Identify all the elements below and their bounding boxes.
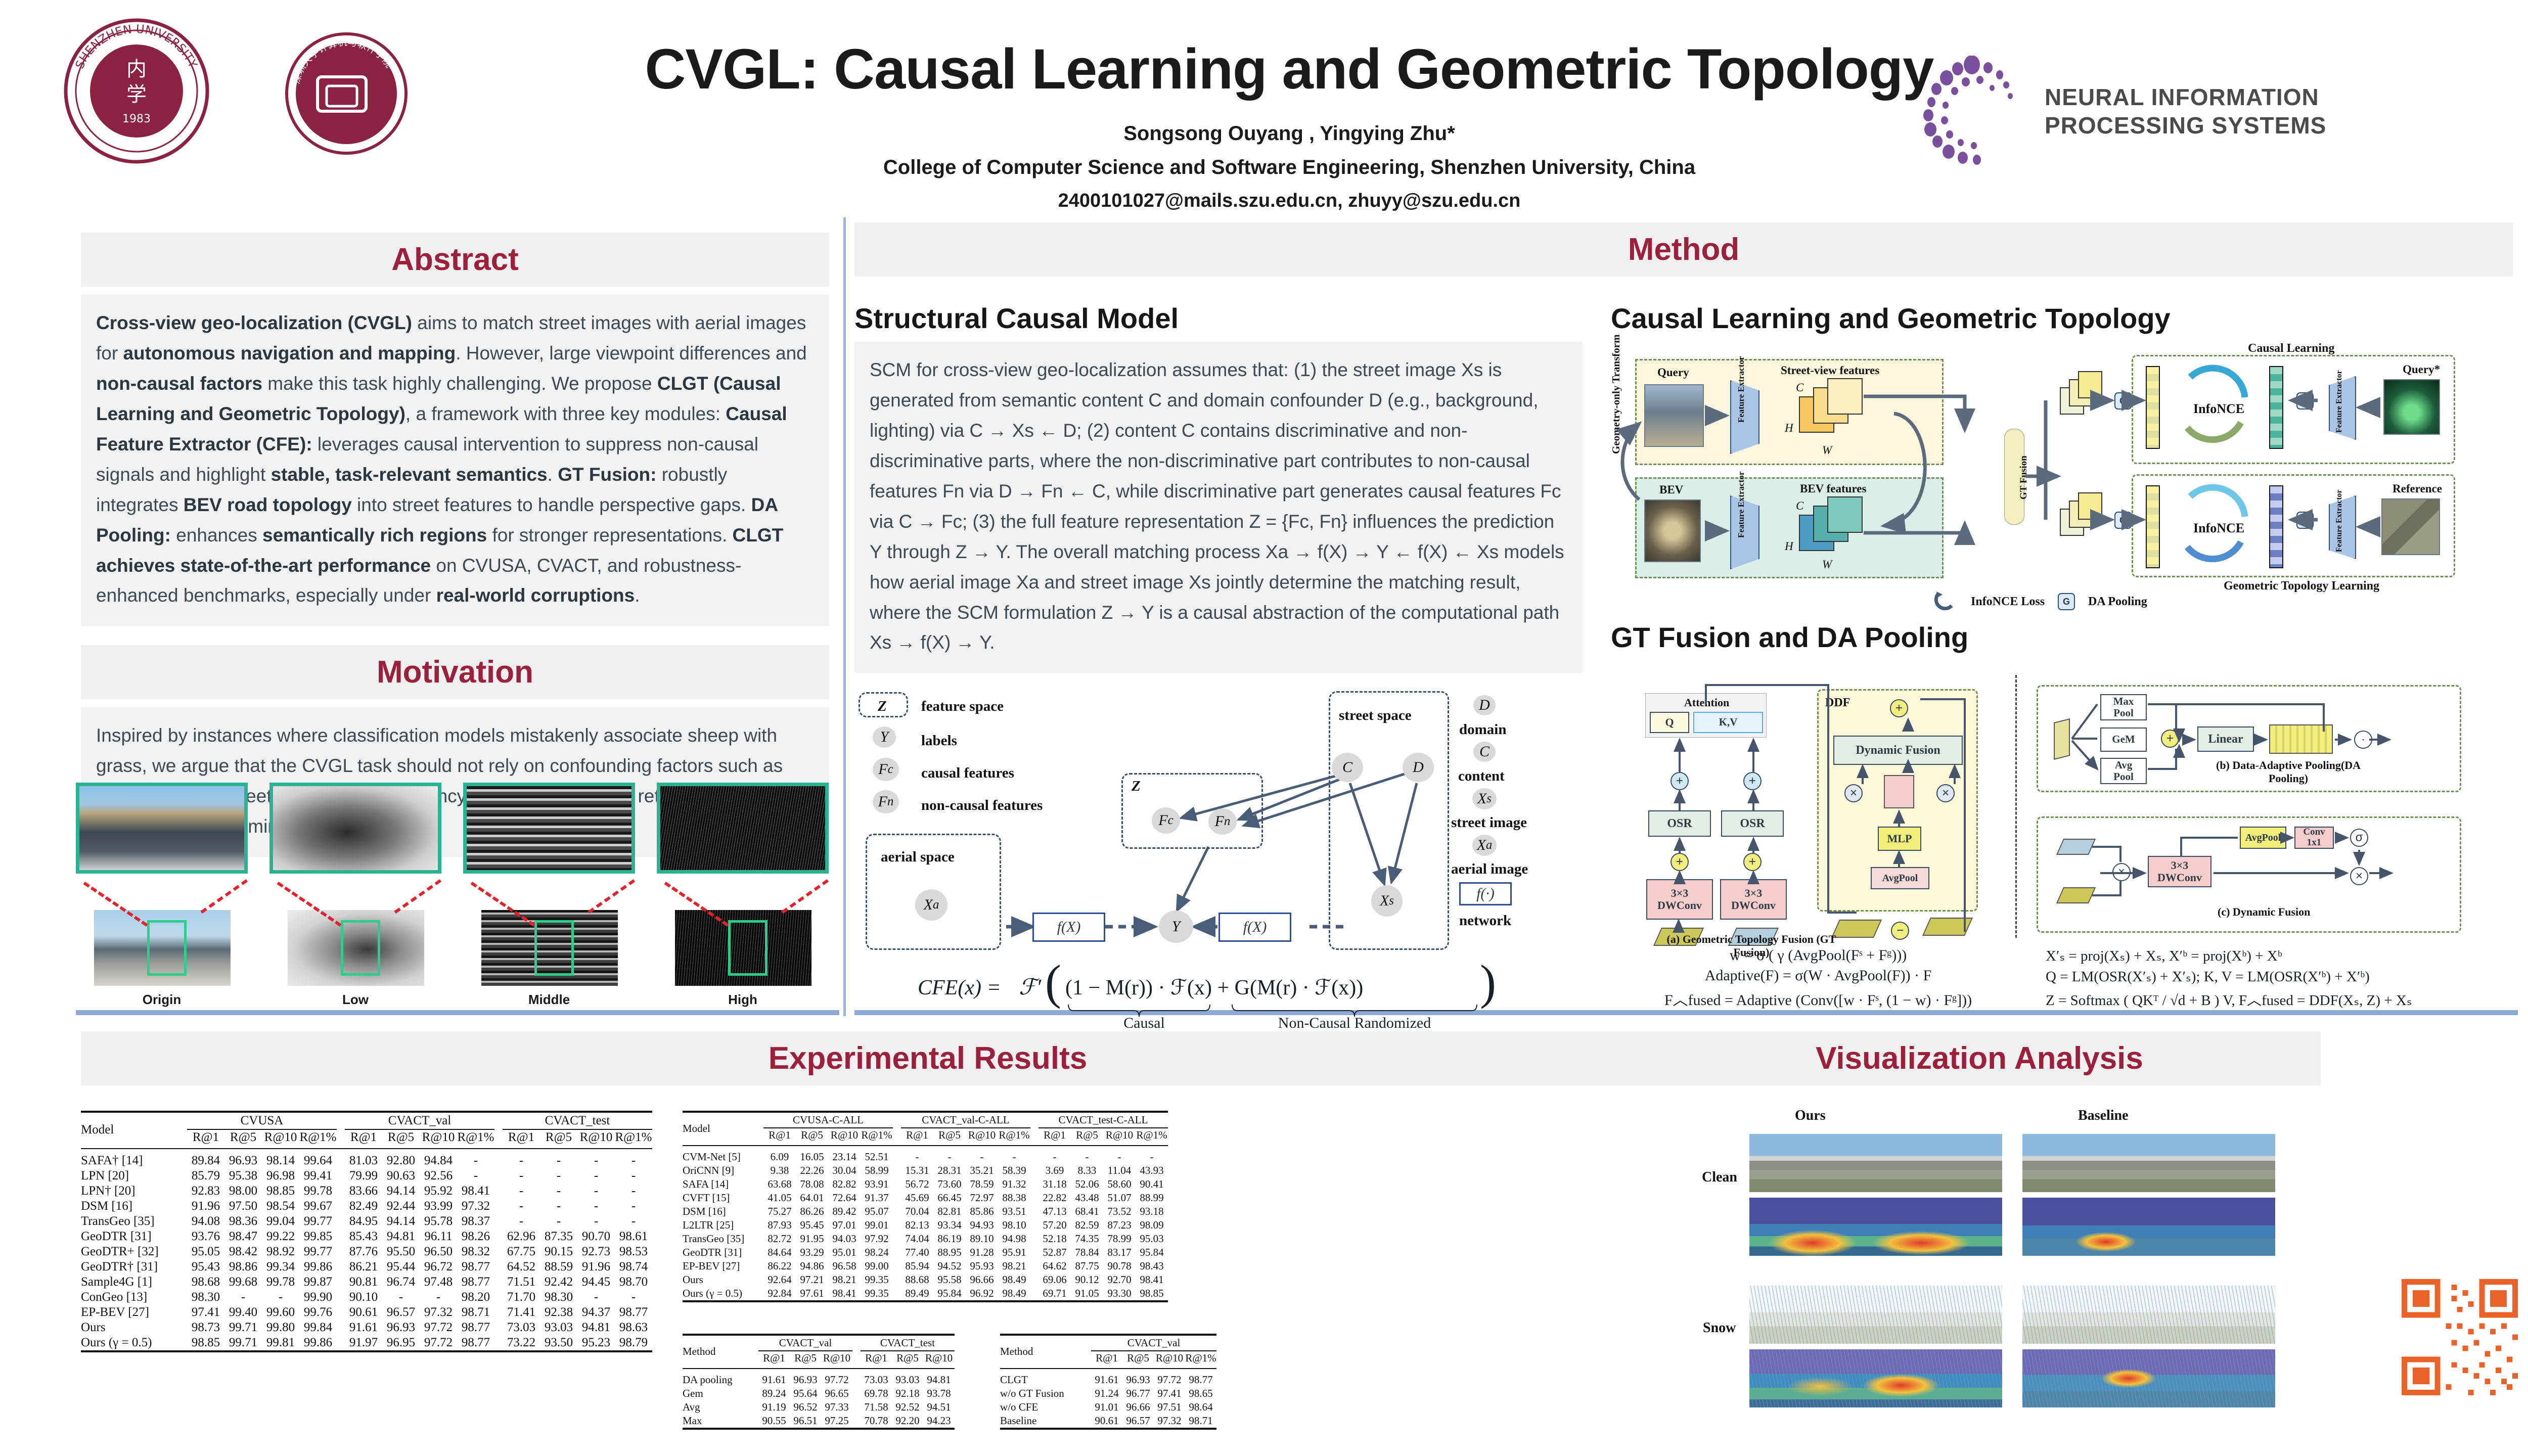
table-cell: 78.59 [966, 1177, 998, 1191]
table-cell: 82.59 [1071, 1218, 1103, 1232]
table-cell-model: CVM-Net [5] [683, 1146, 763, 1164]
motivation-roi-middle [534, 920, 574, 976]
table-cell-model: GeoDTR+ [32] [81, 1244, 187, 1259]
g-badge-icon: G [2058, 593, 2075, 610]
table-cell: 86.19 [933, 1232, 966, 1246]
table-cell: - [503, 1184, 540, 1199]
table-cell: 92.70 [1103, 1273, 1136, 1287]
table-cell: 98.41 [1136, 1273, 1168, 1287]
table-cell: 71.70 [503, 1290, 540, 1305]
table-cell: - [577, 1290, 615, 1305]
table-cell: 84.64 [763, 1246, 796, 1259]
table-col-header: R@10 [1103, 1128, 1136, 1144]
table-cell: 96.65 [821, 1387, 852, 1400]
table-cell: 92.56 [420, 1168, 457, 1184]
motivation-panorama-high [675, 910, 811, 986]
table-cell: 89.42 [828, 1205, 861, 1218]
vis-col-label-baseline: Baseline [2078, 1108, 2129, 1124]
gtfusion-title: GT Fusion and DA Pooling [1611, 621, 2480, 654]
table-col-header: R@10 [1154, 1351, 1185, 1367]
table-cell: 87.75 [1071, 1259, 1103, 1273]
table-cell: 88.38 [998, 1191, 1030, 1205]
table-cell: 91.01 [1091, 1400, 1122, 1414]
table-cell: 98.20 [457, 1290, 494, 1305]
table-cell: - [998, 1146, 1030, 1164]
gtfusion-figure: Attention Q K,V + + OSR OSR + + 3×3DWCon… [1611, 665, 2470, 948]
table-cell: 92.84 [763, 1287, 796, 1301]
table-cell: 52.18 [1039, 1232, 1071, 1246]
table-cell: - [1071, 1146, 1103, 1164]
table-cell: 99.78 [299, 1184, 337, 1199]
table-cell: 78.84 [1071, 1246, 1103, 1259]
table-cell: 94.98 [998, 1232, 1030, 1246]
table-cell: 99.85 [299, 1229, 337, 1244]
table-cell: 73.03 [503, 1320, 540, 1335]
table-cell: 99.90 [299, 1290, 337, 1305]
table-cell: 70.04 [901, 1205, 933, 1218]
legend-d-label: domain [1459, 721, 1506, 738]
svg-text:CFE(x) =: CFE(x) = [918, 976, 1001, 999]
table-cell: - [540, 1199, 577, 1214]
table-row: LPN [20]85.7995.3896.9899.4179.9990.6392… [81, 1168, 652, 1184]
table-cell: - [615, 1290, 652, 1305]
table-cell: 16.05 [796, 1146, 828, 1164]
table-cell: 81.03 [345, 1149, 382, 1168]
table-cell: 85.79 [187, 1168, 224, 1184]
table-cell: 93.18 [1136, 1205, 1168, 1218]
table-cell: 91.61 [345, 1320, 382, 1335]
table-cell: 98.77 [615, 1305, 652, 1320]
table-cell: 31.18 [1039, 1177, 1071, 1191]
table-cell: 99.87 [299, 1275, 337, 1290]
table-row: GeoDTR+ [32]95.0598.4298.9299.7787.7695.… [81, 1244, 652, 1259]
table-cell: 94.81 [923, 1369, 955, 1387]
table-row: Avg91.1996.5297.3371.5892.5294.51 [683, 1400, 955, 1414]
scm-diagram: Z feature space Y labels Fc causal featu… [854, 684, 1583, 967]
table-cell: 92.52 [892, 1400, 923, 1414]
table-col-header: R@5 [1122, 1351, 1154, 1367]
main-results-table: ModelCVUSACVACT_valCVACT_testR@1R@5R@10R… [81, 1111, 652, 1352]
table-cell: 87.93 [763, 1218, 796, 1232]
feature-space-label: Z [1132, 778, 1141, 795]
table-cell: 90.61 [1091, 1414, 1122, 1429]
table-cell-model: CVFT [15] [683, 1191, 763, 1205]
table-group-header: CVACT_test [861, 1335, 955, 1351]
motivation-label-high: High [657, 992, 829, 1008]
motivation-panorama-origin [94, 910, 231, 986]
table-cell: 97.01 [828, 1218, 861, 1232]
table-cell: 62.96 [503, 1229, 540, 1244]
table-cell: 90.63 [382, 1168, 420, 1184]
motivation-roi-low [341, 920, 380, 976]
table-cell: 87.23 [1103, 1218, 1136, 1232]
table-cell: 15.31 [901, 1164, 933, 1177]
table-col-header: R@5 [933, 1128, 966, 1144]
table-cell: 94.45 [577, 1275, 615, 1290]
table-group-header: CVACT_val-C-ALL [901, 1112, 1030, 1128]
table-cell: - [503, 1168, 540, 1184]
feature-space-group [1121, 773, 1263, 849]
motivation-label-origin: Origin [76, 992, 248, 1008]
table-row: w/o GT Fusion91.2496.7797.4198.65 [1000, 1387, 1216, 1400]
table-cell: 94.81 [577, 1320, 615, 1335]
node-fc: Fc [1152, 807, 1180, 834]
table-cell: 91.24 [1091, 1387, 1122, 1400]
poster-header: 内 学 1983 SHENZHEN UNIVERSITY 深圳大学计算机与软件学… [0, 0, 2528, 202]
table-cell: 94.81 [382, 1229, 420, 1244]
table-col-header: R@5 [892, 1351, 923, 1367]
legend-z-symbol: Z [878, 698, 887, 715]
visualization-heading: Visualization Analysis [1638, 1031, 2321, 1085]
neurips-wordmark: NEURAL INFORMATION PROCESSING SYSTEMS [2045, 83, 2326, 140]
table-cell: 74.35 [1071, 1232, 1103, 1246]
table-cell: 99.77 [299, 1214, 337, 1229]
shenzhen-university-logo-icon: 内 学 1983 SHENZHEN UNIVERSITY [61, 15, 212, 167]
table-cell: 98.74 [615, 1259, 652, 1275]
table-cell: - [382, 1290, 420, 1305]
table-cell: - [615, 1214, 652, 1229]
table-cell: 93.78 [923, 1387, 955, 1400]
vis-clean-baseline-image [2022, 1134, 2275, 1192]
table-cell: 8.33 [1071, 1164, 1103, 1177]
table-row: EP-BEV [27]97.4199.4099.6099.7690.6196.5… [81, 1305, 652, 1320]
affiliation: College of Computer Science and Software… [581, 156, 1997, 179]
table-cell: 98.21 [828, 1273, 861, 1287]
clgt-connectors [1611, 348, 2470, 585]
table-cell-model: TransGeo [35] [683, 1232, 763, 1246]
table-cell: - [262, 1290, 299, 1305]
table-cell: 47.13 [1039, 1205, 1071, 1218]
table-cell: 98.65 [1185, 1387, 1216, 1400]
svg-text:Non-Causal Randomized: Non-Causal Randomized [1278, 1015, 1431, 1031]
table-cell: 98.00 [224, 1184, 262, 1199]
table-cell: 90.10 [345, 1290, 382, 1305]
legend-network-label: network [1459, 913, 1511, 929]
table-cell: 58.39 [998, 1164, 1030, 1177]
table-cell: 92.42 [540, 1275, 577, 1290]
table-cell: - [577, 1199, 615, 1214]
table-cell: 96.57 [382, 1305, 420, 1320]
table-col-header: R@1 [901, 1128, 933, 1144]
table-row: CVFT [15]41.0564.0172.6491.3745.6966.457… [683, 1191, 1168, 1205]
main-results-table-wrap: ModelCVUSACVACT_valCVACT_testR@1R@5R@10R… [81, 1111, 652, 1430]
table-cell: 91.97 [345, 1335, 382, 1351]
table-cell: 91.61 [758, 1369, 790, 1387]
scm-text: SCM for cross-view geo-localization assu… [870, 355, 1567, 658]
motivation-figure: Origin Low Middle High [76, 783, 834, 1005]
table-cell: 98.64 [1185, 1400, 1216, 1414]
qr-code-icon[interactable] [2402, 1279, 2518, 1395]
table-cell-model: Ours [683, 1273, 763, 1287]
table-cell: 91.95 [796, 1232, 828, 1246]
table-row: L2LTR [25]87.9395.4597.0199.0182.1393.34… [683, 1218, 1168, 1232]
table-cell: 98.77 [457, 1320, 494, 1335]
table-cell-model: LPN† [20] [81, 1184, 187, 1199]
table-cell: - [1103, 1146, 1136, 1164]
cfe-equation-svg: CFE(x) = ℱ′ ( (1 − M(r)) · ℱ(x) + G(M(r)… [857, 958, 1580, 1034]
table-cell: 98.92 [262, 1244, 299, 1259]
table-col-header: R@1% [861, 1128, 893, 1144]
table-cell-model: OriCNN [9] [683, 1164, 763, 1177]
table-cell: 96.57 [1122, 1414, 1154, 1429]
equations-right: X′ₛ = proj(Xₛ) + Xₛ, X′ᵇ = proj(Xᵇ) + Xᵇ… [2046, 945, 2470, 1013]
table-cell: 99.67 [299, 1199, 337, 1214]
table-cell: 11.04 [1103, 1164, 1136, 1177]
legend-xs-label: street image [1451, 814, 1527, 831]
table-cell: 70.78 [861, 1414, 892, 1429]
table-cell: 98.32 [457, 1244, 494, 1259]
table-cell: 73.52 [1103, 1205, 1136, 1218]
vis-snow-ours-image [1749, 1286, 2002, 1344]
table-cell: - [503, 1149, 540, 1168]
table-cell: 99.00 [861, 1259, 893, 1273]
table-cell: 66.45 [933, 1191, 966, 1205]
street-space-label: street space [1339, 707, 1412, 724]
table-cell: 98.09 [1136, 1218, 1168, 1232]
table-cell: 99.80 [262, 1320, 299, 1335]
robustness-results-table: ModelCVUSA-C-ALLCVACT_val-C-ALLCVACT_tes… [683, 1111, 1168, 1302]
arrow-loop-icon [1934, 590, 1958, 613]
table-row: Ours (γ = 0.5)92.8497.6198.4199.3589.499… [683, 1287, 1168, 1301]
table-row: Baseline90.6196.5797.3298.71 [1000, 1414, 1216, 1429]
table-cell: 3.69 [1039, 1164, 1071, 1177]
table-cell-model: Gem [683, 1387, 758, 1400]
table-cell-model: Ours [81, 1320, 187, 1335]
table-cell: 98.68 [187, 1275, 224, 1290]
table-cell: 88.59 [540, 1259, 577, 1275]
table-cell: 97.72 [1154, 1369, 1185, 1387]
table-cell: 99.78 [262, 1275, 299, 1290]
table-cell-model: GeoDTR [31] [683, 1246, 763, 1259]
table-cell-model: Baseline [1000, 1414, 1091, 1429]
table-col-header: R@1% [1136, 1128, 1168, 1144]
table-cell: 92.38 [540, 1305, 577, 1320]
cfe-equation: CFE(x) = ℱ′ ( (1 − M(r)) · ℱ(x) + G(M(r)… [854, 958, 1583, 1036]
table-cell: 83.17 [1103, 1246, 1136, 1259]
table-cell: 82.49 [345, 1199, 382, 1214]
table-cell: 95.50 [382, 1244, 420, 1259]
table-cell-model: EP-BEV [27] [683, 1259, 763, 1273]
motivation-panorama-middle [481, 910, 618, 986]
table-row: SAFA† [14]89.8496.9398.1499.6481.0392.80… [81, 1149, 652, 1168]
legend-z-label: feature space [921, 698, 1004, 715]
neurips-logo: NEURAL INFORMATION PROCESSING SYSTEMS [1911, 56, 2346, 167]
table-cell: 63.68 [763, 1177, 796, 1191]
table-cell: 82.81 [933, 1205, 966, 1218]
table-cell: 90.81 [345, 1275, 382, 1290]
table-cell: 77.40 [901, 1246, 933, 1259]
table-cell-model: ConGeo [13] [81, 1290, 187, 1305]
table-cell: 86.26 [796, 1205, 828, 1218]
table-cell: 6.09 [763, 1146, 796, 1164]
table-cell: 98.54 [262, 1199, 299, 1214]
table-col-header: R@1% [457, 1129, 494, 1147]
table-cell: 96.98 [262, 1168, 299, 1184]
svg-text:内: 内 [126, 58, 147, 81]
clgt-architecture-figure: Geometry-only Transform Query Feature Ex… [1611, 348, 2470, 585]
table-cell: 99.64 [299, 1149, 337, 1168]
table-cell: 9.38 [763, 1164, 796, 1177]
table-cell: 93.34 [933, 1218, 966, 1232]
table-col-header: R@5 [790, 1351, 821, 1367]
da-pooling-legend-label: DA Pooling [2088, 595, 2147, 609]
table-cell: - [457, 1168, 494, 1184]
table-cell: 97.92 [861, 1232, 893, 1246]
scm-title: Structural Causal Model [854, 302, 1583, 335]
table-cell: 96.11 [420, 1229, 457, 1244]
table-cell-model: Sample4G [1] [81, 1275, 187, 1290]
clgt-legend: InfoNCE Loss G DA Pooling [1611, 587, 2480, 616]
table-cell: 85.94 [901, 1259, 933, 1273]
table-cell: 95.78 [420, 1214, 457, 1229]
table-cell: 96.95 [382, 1335, 420, 1351]
table-cell-model: w/o CFE [1000, 1400, 1091, 1414]
vis-row-label-clean: Clean [1702, 1169, 1737, 1186]
table-cell: 94.08 [187, 1214, 224, 1229]
table-col-header: R@10 [821, 1351, 852, 1367]
table-row: DSM [16]91.9697.5098.5499.6782.4992.4493… [81, 1199, 652, 1214]
table-cell: 88.68 [901, 1273, 933, 1287]
table-cell: 96.92 [966, 1287, 998, 1301]
table-cell: 96.51 [790, 1414, 821, 1429]
node-y: Y [1159, 911, 1193, 943]
table-cell: 98.43 [1136, 1259, 1168, 1273]
table-cell: 97.72 [420, 1335, 457, 1351]
table-cell: 98.77 [457, 1259, 494, 1275]
table-cell: 98.86 [224, 1259, 262, 1275]
node-fx-street: f(X) [1218, 913, 1291, 942]
visualization-grid: Ours Baseline Clean Snow [1638, 1108, 2321, 1431]
table-cell: 99.04 [262, 1214, 299, 1229]
table-cell: 95.58 [933, 1273, 966, 1287]
table-cell: 71.58 [861, 1400, 892, 1414]
table-cell: - [933, 1146, 966, 1164]
vis-clean-ours-image [1749, 1134, 2002, 1192]
table-group-header: CVACT_val [345, 1112, 494, 1129]
experimental-results-section: Experimental Results ModelCVUSACVACT_val… [81, 1031, 1775, 1430]
table-cell: 91.28 [966, 1246, 998, 1259]
table-cell: 93.30 [1103, 1287, 1136, 1301]
table-col-header: R@5 [1071, 1128, 1103, 1144]
visualization-section: Visualization Analysis Ours Baseline Cle… [1638, 1031, 2321, 1431]
table-cell: 98.63 [615, 1320, 652, 1335]
legend-network-node: f(·) [1459, 882, 1512, 905]
table-cell: 88.95 [933, 1246, 966, 1259]
table-cell: 99.71 [224, 1320, 262, 1335]
table-cell: 89.84 [187, 1149, 224, 1168]
motivation-crop-origin [76, 783, 248, 874]
table-col-header: R@5 [540, 1129, 577, 1147]
ablation-tables-row: MethodCVACT_valCVACT_testR@1R@5R@10R@1R@… [683, 1334, 1216, 1430]
table-cell: 98.77 [457, 1275, 494, 1290]
table-cell: 87.35 [540, 1229, 577, 1244]
table-cell: 91.37 [861, 1191, 893, 1205]
vis-snow-baseline-image [2022, 1286, 2275, 1344]
table-cell-model: LPN [20] [81, 1168, 187, 1184]
table-cell: 52.06 [1071, 1177, 1103, 1191]
table-cell: 98.71 [1185, 1414, 1216, 1429]
table-cell: 99.71 [224, 1335, 262, 1351]
table-cell: 82.82 [828, 1177, 861, 1191]
vis-row-label-snow: Snow [1703, 1320, 1736, 1336]
table-row: GeoDTR [31]93.7698.4799.2299.8585.4394.8… [81, 1229, 652, 1244]
table-cell: 94.14 [382, 1184, 420, 1199]
table-col-header: Model [81, 1112, 187, 1147]
node-fn: Fn [1208, 808, 1237, 835]
motivation-heading: Motivation [81, 645, 829, 699]
table-cell: 97.72 [420, 1320, 457, 1335]
section-divider-left [76, 1010, 839, 1015]
table-cell: 96.93 [224, 1149, 262, 1168]
table-cell: 97.50 [224, 1199, 262, 1214]
table-cell: 90.78 [1103, 1259, 1136, 1273]
table-cell-model: SAFA [14] [683, 1177, 763, 1191]
table-cell: 97.21 [796, 1273, 828, 1287]
table-cell: 83.66 [345, 1184, 382, 1199]
svg-text:学: 学 [126, 83, 147, 106]
table-cell: 96.72 [420, 1259, 457, 1275]
table-cell: 99.01 [861, 1218, 893, 1232]
table-cell: 95.03 [1136, 1232, 1168, 1246]
node-fx-aerial: f(X) [1032, 913, 1105, 942]
table-cell: - [503, 1199, 540, 1214]
table-cell: 90.41 [1136, 1177, 1168, 1191]
table-cell: - [577, 1168, 615, 1184]
legend-fn-label: non-causal features [921, 797, 1043, 814]
table-cell: - [901, 1146, 933, 1164]
table-cell: 94.14 [382, 1214, 420, 1229]
table-col-header: R@1 [1039, 1128, 1071, 1144]
table-cell: 97.48 [420, 1275, 457, 1290]
table-cell: 98.41 [828, 1287, 861, 1301]
table-cell: 99.60 [262, 1305, 299, 1320]
table-cell: 99.77 [299, 1244, 337, 1259]
table-group-header: CVACT_test-C-ALL [1039, 1112, 1168, 1128]
table-cell: - [615, 1168, 652, 1184]
table-cell: 98.79 [615, 1335, 652, 1351]
table-row: Max90.5596.5197.2570.7892.2094.23 [683, 1414, 955, 1429]
table-cell: 91.19 [758, 1400, 790, 1414]
table-row: GeoDTR† [31]95.4398.8699.3499.8686.2195.… [81, 1259, 652, 1275]
table-cell: 97.61 [796, 1287, 828, 1301]
table-cell: - [577, 1214, 615, 1229]
table-cell: 95.07 [861, 1205, 893, 1218]
table-cell: 52.87 [1039, 1246, 1071, 1259]
table-cell-model: w/o GT Fusion [1000, 1387, 1091, 1400]
table-cell: 89.24 [758, 1387, 790, 1400]
table-cell-model: DSM [16] [81, 1199, 187, 1214]
method-heading: Method [854, 222, 2513, 277]
motivation-label-middle: Middle [463, 992, 635, 1008]
table-cell: 99.81 [262, 1335, 299, 1351]
vis-snow-ours-heatmap [1749, 1349, 2002, 1407]
table-cell: - [1136, 1146, 1168, 1164]
table-row: DA pooling91.6196.9397.7273.0393.0394.81 [683, 1369, 955, 1387]
node-d: D [1403, 753, 1434, 782]
contact-emails: 2400101027@mails.szu.edu.cn, zhuyy@szu.e… [581, 190, 1997, 212]
table-group-header: CVACT_val [1091, 1335, 1216, 1351]
table-cell: 91.05 [1071, 1287, 1103, 1301]
column-divider-vertical [843, 217, 846, 1016]
table-cell: 98.49 [998, 1287, 1030, 1301]
table-cell: 91.61 [1091, 1369, 1122, 1387]
motivation-roi-origin [147, 920, 187, 976]
table-cell: 73.60 [933, 1177, 966, 1191]
table-cell: 72.64 [828, 1191, 861, 1205]
table-col-header: R@10 [828, 1128, 861, 1144]
table-cell-model: SAFA† [14] [81, 1149, 187, 1168]
table-cell: 95.01 [828, 1246, 861, 1259]
